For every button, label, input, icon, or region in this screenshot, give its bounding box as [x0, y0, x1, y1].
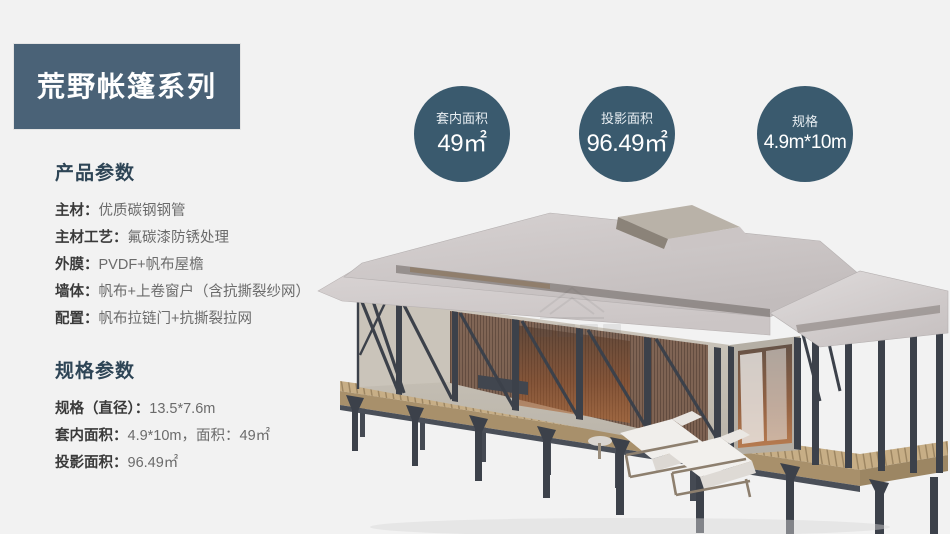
spec-value: PVDF+帆布屋檐	[99, 257, 204, 273]
spec-value: 4.9*10m，面积：49㎡	[128, 428, 271, 444]
spec-label: 配置：	[55, 311, 99, 327]
stat-badge-group: 套内面积 49㎡ 投影面积 96.49㎡ 规格 4.9m*10m	[414, 86, 904, 186]
spec-value: 96.49㎡	[128, 455, 179, 471]
stat-badge-value: 96.49㎡	[586, 131, 667, 156]
spec-label: 主材工艺：	[55, 230, 128, 246]
stat-badge-label: 规格	[792, 115, 818, 129]
stat-badge-interior-area: 套内面积 49㎡	[414, 86, 510, 182]
spec-value: 优质碳钢钢管	[99, 203, 186, 219]
spec-value: 13.5*7.6m	[149, 401, 215, 417]
spec-label: 投影面积：	[55, 455, 128, 471]
spec-value: 氟碳漆防锈处理	[128, 230, 230, 246]
spec-label: 外膜：	[55, 257, 99, 273]
spec-label: 规格（直径）：	[55, 401, 149, 417]
page-title: 荒野帐篷系列	[37, 73, 217, 101]
product-render-image	[300, 205, 950, 534]
spec-label: 墙体：	[55, 284, 99, 300]
stat-badge-value: 4.9m*10m	[764, 133, 847, 153]
spec-value: 帆布拉链门+抗撕裂拉网	[99, 311, 252, 327]
stat-badge-label: 套内面积	[436, 112, 488, 126]
page-title-banner: 荒野帐篷系列	[14, 44, 240, 129]
spec-label: 套内面积：	[55, 428, 128, 444]
stat-badge-value: 49㎡	[437, 131, 486, 156]
spec-value: 帆布+上卷窗户（含抗撕裂纱网）	[99, 284, 310, 300]
stat-badge-label: 投影面积	[601, 112, 653, 126]
spec-label: 主材：	[55, 203, 99, 219]
stat-badge-projected-area: 投影面积 96.49㎡	[579, 86, 675, 182]
section-heading-product-parameters: 产品参数	[55, 163, 355, 186]
stat-badge-dimensions: 规格 4.9m*10m	[757, 86, 853, 182]
